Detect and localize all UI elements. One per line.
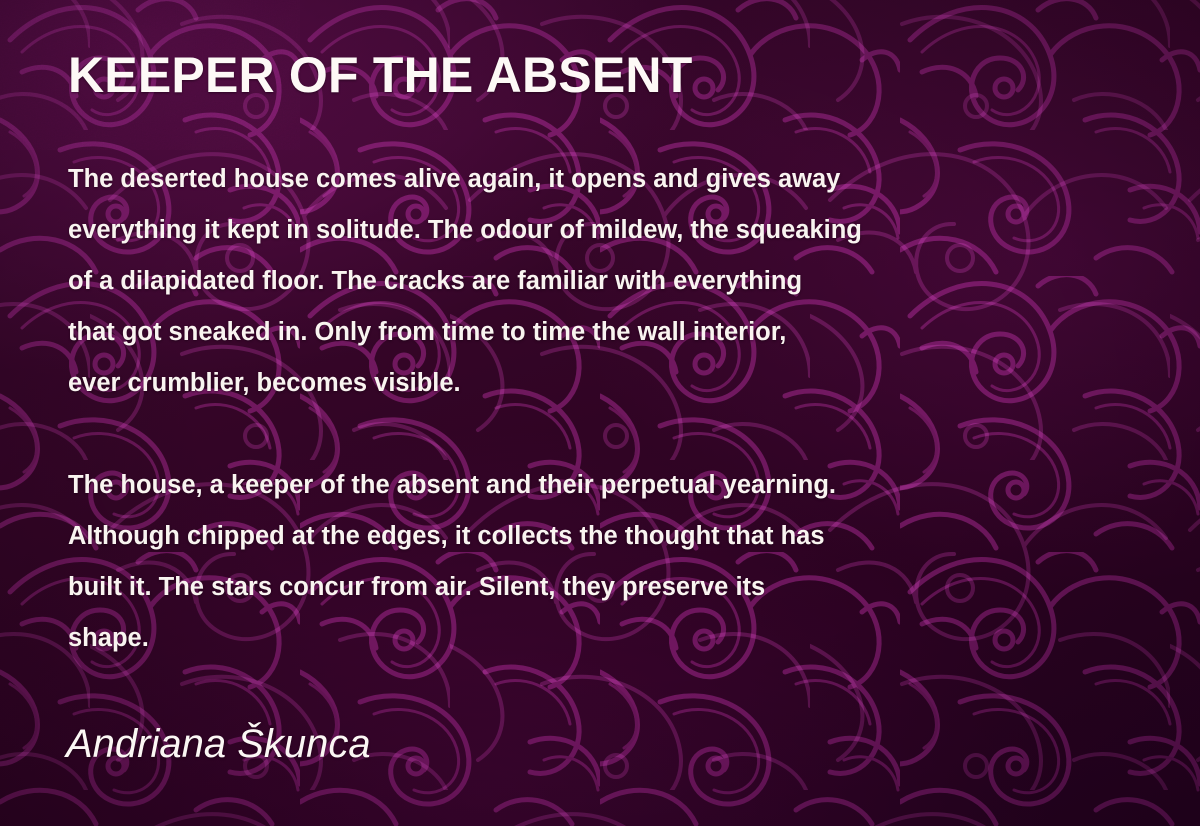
poem-content: KEEPER OF THE ABSENT The deserted house … bbox=[68, 0, 1140, 826]
poem-body: The deserted house comes alive again, it… bbox=[68, 154, 1128, 664]
poem-line: of a dilapidated floor. The cracks are f… bbox=[68, 256, 1128, 307]
poem-line: everything it kept in solitude. The odou… bbox=[68, 205, 1128, 256]
poem-line: ever crumblier, becomes visible. bbox=[68, 358, 1128, 409]
poem-stanza: The house, a keeper of the absent and th… bbox=[68, 460, 1128, 664]
poem-line: The deserted house comes alive again, it… bbox=[68, 154, 1128, 205]
poem-line: shape. bbox=[68, 613, 1128, 664]
poem-line: The house, a keeper of the absent and th… bbox=[68, 460, 1128, 511]
poem-line: built it. The stars concur from air. Sil… bbox=[68, 562, 1128, 613]
author-name: Andriana Škunca bbox=[66, 722, 371, 767]
poem-line: that got sneaked in. Only from time to t… bbox=[68, 307, 1128, 358]
poem-card: KEEPER OF THE ABSENT The deserted house … bbox=[0, 0, 1200, 826]
poem-line: Although chipped at the edges, it collec… bbox=[68, 511, 1128, 562]
page-title: KEEPER OF THE ABSENT bbox=[68, 46, 692, 104]
poem-stanza: The deserted house comes alive again, it… bbox=[68, 154, 1128, 409]
